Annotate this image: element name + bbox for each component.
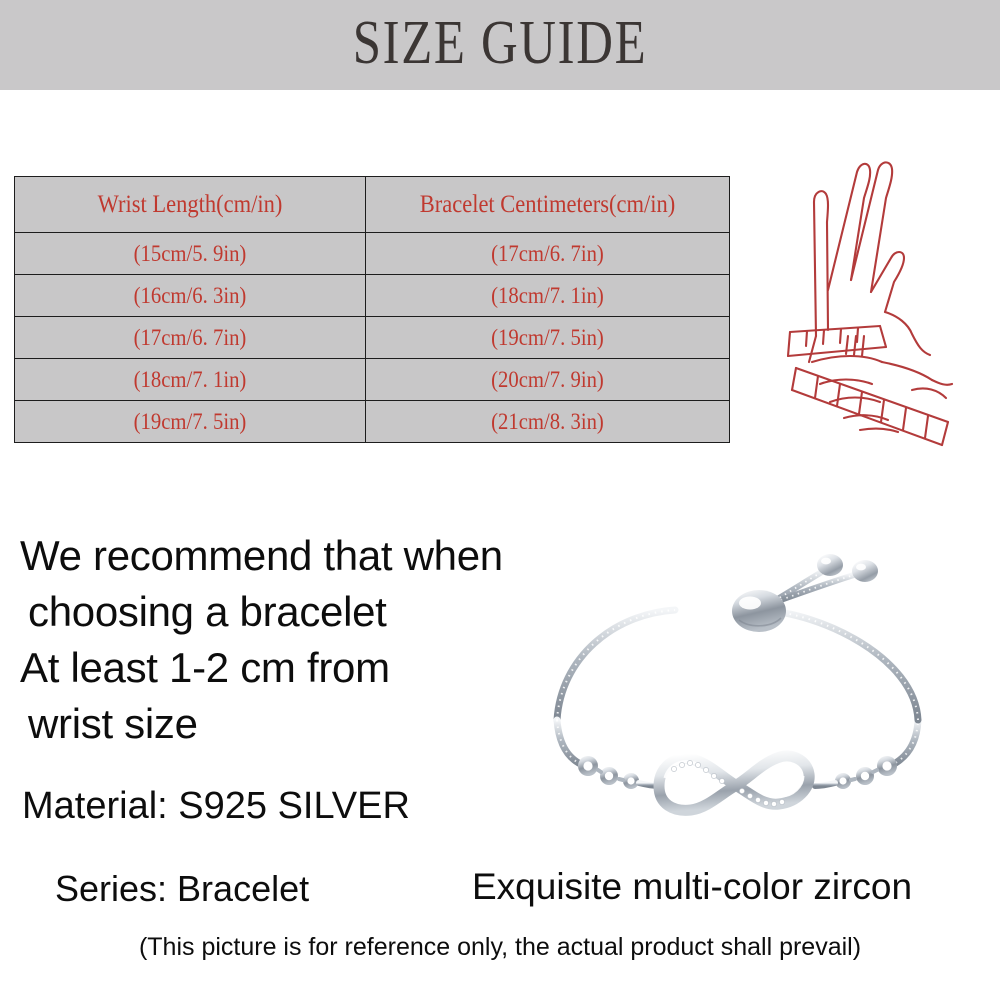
cell-bracelet-length: (18cm/7. 1in) <box>366 275 730 317</box>
recommendation-line-1: We recommend that when <box>20 528 550 584</box>
table-row: (17cm/6. 7in) (19cm/7. 5in) <box>15 317 730 359</box>
table-row: (15cm/5. 9in) (17cm/6. 7in) <box>15 233 730 275</box>
cell-wrist-length-value: (18cm/7. 1in) <box>33 367 348 393</box>
cell-bracelet-length-value: (17cm/6. 7in) <box>384 241 711 267</box>
header-banner: SIZE GUIDE <box>0 0 1000 90</box>
series-spec: Series: Bracelet <box>55 866 309 912</box>
cell-wrist-length-value: (15cm/5. 9in) <box>33 241 348 267</box>
table-row: (19cm/7. 5in) (21cm/8. 3in) <box>15 401 730 443</box>
size-guide-table: Wrist Length(cm/in) Bracelet Centimeters… <box>14 176 730 443</box>
cell-wrist-length-value: (17cm/6. 7in) <box>33 325 348 351</box>
cell-bracelet-length-value: (20cm/7. 9in) <box>384 367 711 393</box>
bracelet-product-photo <box>535 538 1000 838</box>
recommendation-line-4: wrist size <box>20 696 550 752</box>
column-header-wrist-length-label: Wrist Length(cm/in) <box>33 191 348 219</box>
page-title: SIZE GUIDE <box>90 8 910 78</box>
cell-bracelet-length: (19cm/7. 5in) <box>366 317 730 359</box>
cell-wrist-length: (16cm/6. 3in) <box>15 275 366 317</box>
cell-wrist-length: (17cm/6. 7in) <box>15 317 366 359</box>
table-row: (16cm/6. 3in) (18cm/7. 1in) <box>15 275 730 317</box>
cell-bracelet-length: (21cm/8. 3in) <box>366 401 730 443</box>
cell-bracelet-length-value: (21cm/8. 3in) <box>384 409 711 435</box>
recommendation-text-block: We recommend that when choosing a bracel… <box>20 528 550 752</box>
table-row: (18cm/7. 1in) (20cm/7. 9in) <box>15 359 730 401</box>
recommendation-line-2: choosing a bracelet <box>20 584 550 640</box>
material-spec: Material: S925 SILVER <box>22 782 410 830</box>
feature-caption: Exquisite multi-color zircon <box>472 864 912 910</box>
column-header-bracelet-centimeters-label: Bracelet Centimeters(cm/in) <box>384 191 711 219</box>
infinity-bolo-bracelet-image <box>535 538 1000 838</box>
column-header-bracelet-centimeters: Bracelet Centimeters(cm/in) <box>366 177 730 233</box>
cell-bracelet-length-value: (19cm/7. 5in) <box>384 325 711 351</box>
infinity-charm <box>659 756 809 810</box>
hand-with-measuring-tape-icon <box>752 140 992 450</box>
disclaimer-text: (This picture is for reference only, the… <box>0 930 1000 964</box>
table-header-row: Wrist Length(cm/in) Bracelet Centimeters… <box>15 177 730 233</box>
cell-bracelet-length: (17cm/6. 7in) <box>366 233 730 275</box>
hand-measuring-illustration <box>752 140 992 450</box>
cell-bracelet-length-value: (18cm/7. 1in) <box>384 283 711 309</box>
cell-wrist-length-value: (19cm/7. 5in) <box>33 409 348 435</box>
cell-wrist-length: (18cm/7. 1in) <box>15 359 366 401</box>
column-header-wrist-length: Wrist Length(cm/in) <box>15 177 366 233</box>
cell-wrist-length-value: (16cm/6. 3in) <box>33 283 348 309</box>
cell-wrist-length: (15cm/5. 9in) <box>15 233 366 275</box>
recommendation-line-3: At least 1-2 cm from <box>20 640 550 696</box>
cell-bracelet-length: (20cm/7. 9in) <box>366 359 730 401</box>
cell-wrist-length: (19cm/7. 5in) <box>15 401 366 443</box>
